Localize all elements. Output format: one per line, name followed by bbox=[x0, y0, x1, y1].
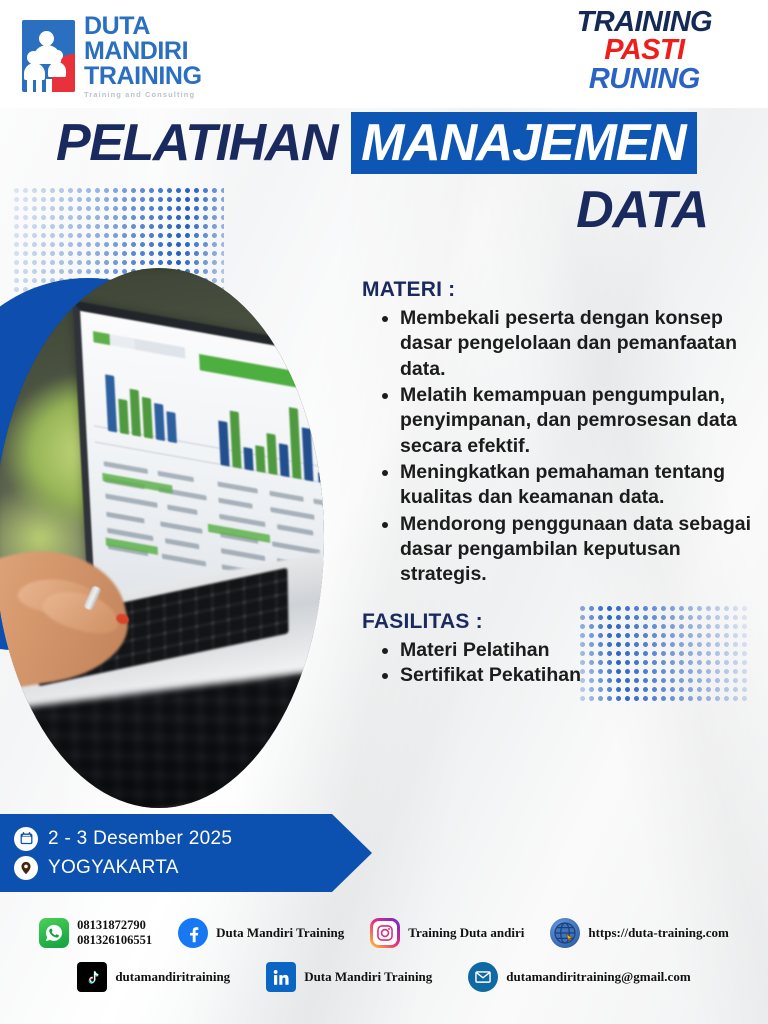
contact-instagram[interactable]: Training Duta andiri bbox=[370, 918, 524, 948]
logo-line-2: MANDIRI bbox=[84, 39, 202, 64]
list-item: Sertifikat Pekatihan bbox=[380, 663, 754, 688]
poster-title: PELATIHAN MANAJEMEN DATA bbox=[0, 112, 768, 240]
whatsapp-number-2: 081326106551 bbox=[77, 933, 152, 947]
duta-mandiri-logo-icon bbox=[22, 20, 75, 92]
logo-tagline: Training and Consulting bbox=[84, 91, 202, 99]
list-item: Mendorong penggunaan data sebagai dasar … bbox=[380, 512, 754, 588]
fasilitas-list: Materi Pelatihan Sertifikat Pekatihan bbox=[380, 638, 754, 689]
event-date: 2 - 3 Desember 2025 bbox=[48, 828, 232, 850]
materi-heading: MATERI : bbox=[362, 278, 754, 302]
contact-website-label: https://duta-training.com bbox=[588, 925, 728, 940]
title-word-data: DATA bbox=[576, 181, 708, 239]
contact-row-2: dutamandiritraining Duta Mandiri Trainin… bbox=[0, 962, 768, 992]
poster-root: DUTA MANDIRI TRAINING Training and Consu… bbox=[0, 0, 768, 1024]
contact-whatsapp[interactable]: 08131872790081326106551 bbox=[39, 918, 152, 948]
hero-photo bbox=[0, 268, 324, 808]
map-pin-icon bbox=[14, 856, 38, 880]
instagram-icon bbox=[370, 918, 400, 948]
contact-website[interactable]: https://duta-training.com bbox=[550, 918, 728, 948]
poster-content: MATERI : Membekali peserta dengan konsep… bbox=[362, 278, 754, 688]
calendar-icon bbox=[14, 827, 38, 851]
list-item: Meningkatkan pemahaman tentang kualitas … bbox=[380, 460, 754, 511]
fasilitas-heading: FASILITAS : bbox=[362, 610, 754, 634]
contact-email[interactable]: dutamandiritraining@gmail.com bbox=[468, 962, 690, 992]
contact-linkedin[interactable]: Duta Mandiri Training bbox=[266, 962, 432, 992]
title-word-pelatihan: PELATIHAN bbox=[56, 112, 351, 174]
slogan-line-1: TRAINING bbox=[577, 8, 712, 36]
event-info-banner: 2 - 3 Desember 2025 YOGYAKARTA bbox=[0, 814, 372, 892]
slogan-line-3: RUNING bbox=[577, 65, 712, 93]
list-item: Melatih kemampuan pengumpulan, penyimpan… bbox=[380, 383, 754, 459]
tiktok-icon bbox=[77, 962, 107, 992]
contact-facebook[interactable]: Duta Mandiri Training bbox=[178, 918, 344, 948]
contact-tiktok[interactable]: dutamandiritraining bbox=[77, 962, 230, 992]
brand-slogan: TRAINING PASTI RUNING bbox=[577, 8, 712, 93]
event-location: YOGYAKARTA bbox=[48, 857, 179, 879]
title-word-manajemen: MANAJEMEN bbox=[351, 112, 697, 174]
list-item: Membekali peserta dengan konsep dasar pe… bbox=[380, 306, 754, 382]
brand-logo: DUTA MANDIRI TRAINING Training and Consu… bbox=[22, 14, 202, 99]
contact-instagram-label: Training Duta andiri bbox=[408, 925, 524, 940]
slogan-line-2: PASTI bbox=[577, 36, 712, 64]
poster-header: DUTA MANDIRI TRAINING Training and Consu… bbox=[0, 0, 768, 108]
brand-logo-text: DUTA MANDIRI TRAINING Training and Consu… bbox=[84, 14, 202, 99]
whatsapp-icon bbox=[39, 918, 69, 948]
contact-row-1: 08131872790081326106551 Duta Mandiri Tra… bbox=[0, 918, 768, 948]
logo-line-3: TRAINING bbox=[84, 64, 202, 89]
contact-whatsapp-label: 08131872790081326106551 bbox=[77, 918, 152, 948]
list-item: Materi Pelatihan bbox=[380, 638, 754, 663]
logo-line-1: DUTA bbox=[84, 14, 202, 39]
event-date-row: 2 - 3 Desember 2025 bbox=[14, 827, 372, 851]
whatsapp-number-1: 08131872790 bbox=[77, 918, 146, 932]
contact-linkedin-label: Duta Mandiri Training bbox=[304, 969, 432, 984]
poster-footer: 08131872790081326106551 Duta Mandiri Tra… bbox=[0, 902, 768, 1024]
contact-facebook-label: Duta Mandiri Training bbox=[216, 925, 344, 940]
event-location-row: YOGYAKARTA bbox=[14, 856, 372, 880]
contact-tiktok-label: dutamandiritraining bbox=[115, 969, 230, 984]
facebook-icon bbox=[178, 918, 208, 948]
email-icon bbox=[468, 962, 498, 992]
materi-list: Membekali peserta dengan konsep dasar pe… bbox=[380, 306, 754, 588]
contact-email-label: dutamandiritraining@gmail.com bbox=[506, 969, 690, 984]
linkedin-icon bbox=[266, 962, 296, 992]
website-icon bbox=[550, 918, 580, 948]
